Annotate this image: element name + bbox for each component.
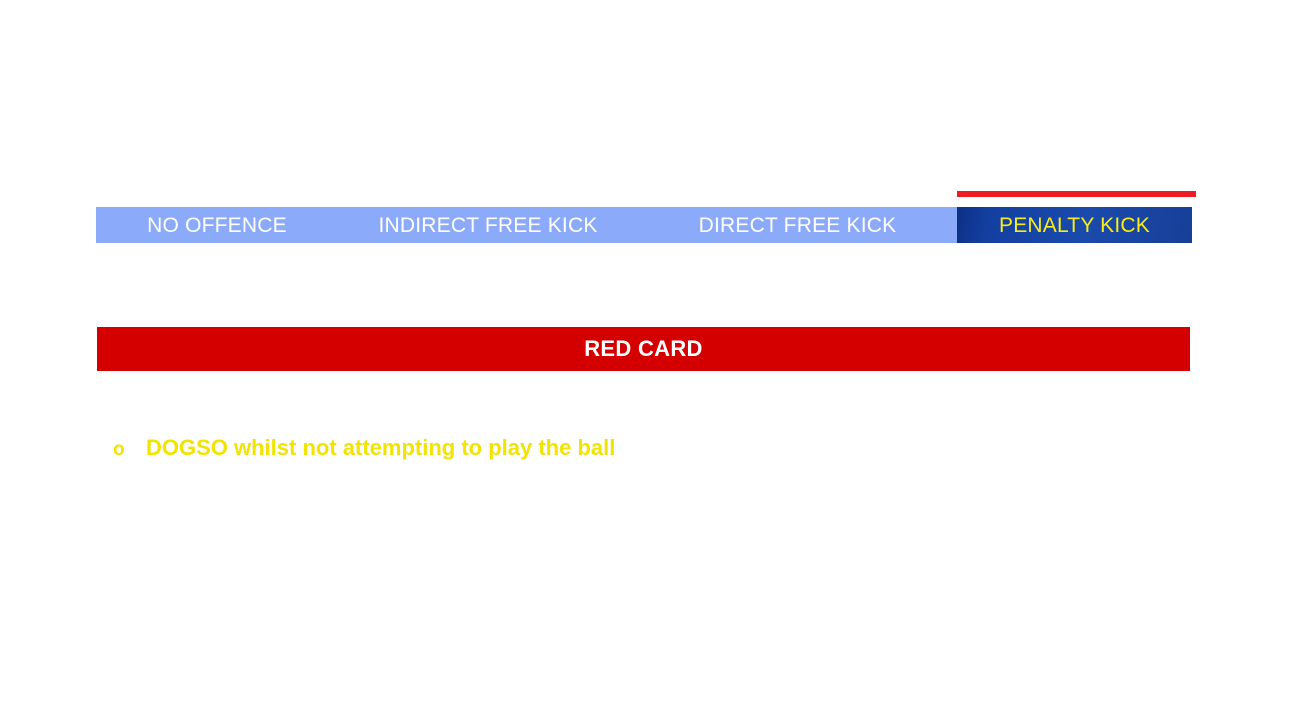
card-sanction-bar: RED CARD xyxy=(97,327,1190,371)
criteria-list: o DOGSO whilst not attempting to play th… xyxy=(113,434,1113,473)
list-item: o DOGSO whilst not attempting to play th… xyxy=(113,434,1113,463)
sanction-segment-label: INDIRECT FREE KICK xyxy=(378,215,597,236)
selected-segment-accent-bar xyxy=(957,191,1196,197)
sanction-segment-direct-free-kick[interactable]: DIRECT FREE KICK xyxy=(638,207,957,243)
sanction-segment-no-offence[interactable]: NO OFFENCE xyxy=(96,207,338,243)
slide-canvas: NO OFFENCE INDIRECT FREE KICK DIRECT FRE… xyxy=(0,0,1290,727)
sanction-segment-indirect-free-kick[interactable]: INDIRECT FREE KICK xyxy=(338,207,638,243)
criteria-item-text: DOGSO whilst not attempting to play the … xyxy=(146,434,615,463)
card-sanction-label: RED CARD xyxy=(584,338,703,360)
sanction-segment-label: PENALTY KICK xyxy=(999,215,1150,236)
sanction-segment-penalty-kick[interactable]: PENALTY KICK xyxy=(957,207,1192,243)
sanction-segment-label: NO OFFENCE xyxy=(147,215,287,236)
sanction-banner: NO OFFENCE INDIRECT FREE KICK DIRECT FRE… xyxy=(96,207,1192,243)
bullet-circle-icon: o xyxy=(113,438,146,463)
sanction-segment-label: DIRECT FREE KICK xyxy=(699,215,897,236)
